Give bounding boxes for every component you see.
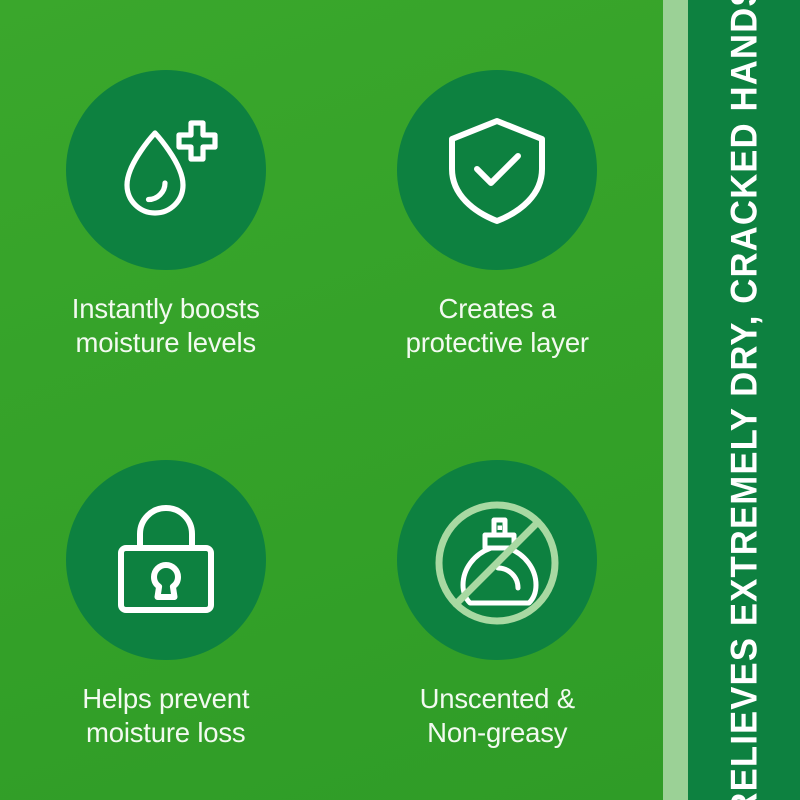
feature-label: Creates a protective layer [406, 292, 589, 360]
claim-banner-text: RELIEVES EXTREMELY DRY, CRACKED HANDS [726, 0, 763, 800]
feature-item-creates-protective-layer: Creates a protective layer [332, 0, 664, 400]
no-fragrance-bottle-icon [422, 485, 572, 635]
claim-banner-panel: RELIEVES EXTREMELY DRY, CRACKED HANDS [688, 0, 800, 800]
padlock-icon [107, 501, 225, 619]
icon-circle [397, 460, 597, 660]
feature-item-instantly-boosts-moisture: Instantly boosts moisture levels [0, 0, 332, 400]
water-droplet-plus-icon [107, 111, 225, 229]
feature-grid: Instantly boosts moisture levels Creates… [0, 0, 663, 800]
light-green-divider-stripe [663, 0, 688, 800]
icon-circle [66, 70, 266, 270]
icon-circle [66, 460, 266, 660]
shield-check-icon [438, 111, 556, 229]
feature-item-helps-prevent-moisture-loss: Helps prevent moisture loss [0, 400, 332, 800]
feature-label: Unscented & Non-greasy [420, 682, 575, 750]
product-feature-graphic: Instantly boosts moisture levels Creates… [0, 0, 800, 800]
features-panel: Instantly boosts moisture levels Creates… [0, 0, 663, 800]
feature-label: Instantly boosts moisture levels [72, 292, 260, 360]
feature-item-unscented-non-greasy: Unscented & Non-greasy [332, 400, 664, 800]
feature-label: Helps prevent moisture loss [82, 682, 249, 750]
icon-circle [397, 70, 597, 270]
